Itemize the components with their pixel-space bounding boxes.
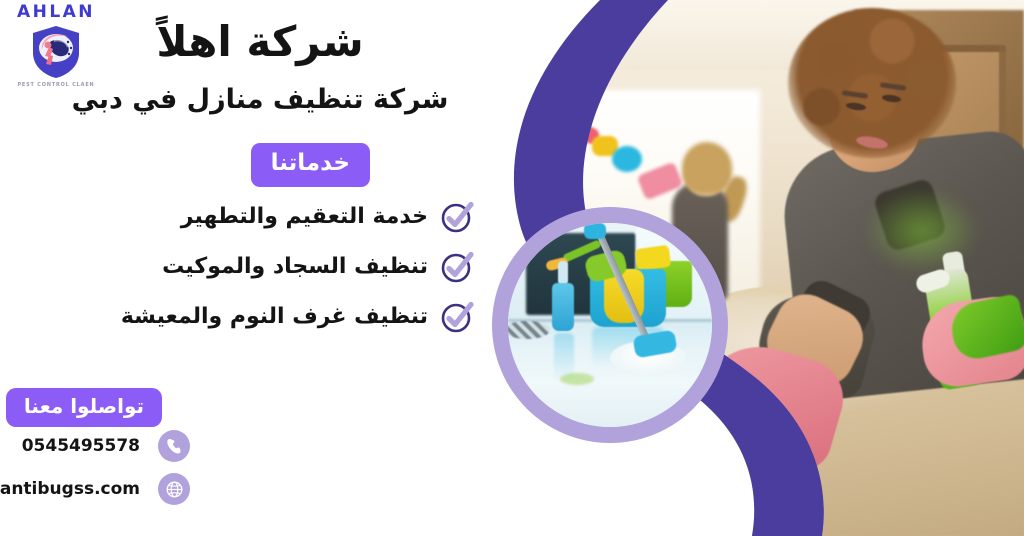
globe-icon (158, 473, 190, 505)
phone-number: 0545495578 (22, 436, 140, 456)
content-column: AHLAN PEST CONTROL CLAEN ش (0, 0, 520, 536)
website-url: https://antibugss.com (0, 479, 140, 499)
spray-mist (862, 186, 982, 276)
inset-mop-grip (584, 223, 606, 239)
check-circle-icon (440, 250, 474, 284)
check-circle-icon (440, 200, 474, 234)
contact-row-phone[interactable]: 0545495578 (0, 430, 190, 462)
contact-badge: تواصلوا معنا (6, 388, 162, 427)
inset-sponge (635, 245, 672, 272)
check-circle-icon (440, 300, 474, 334)
helper-hair (682, 142, 732, 194)
inset-brush-reflection (560, 373, 594, 385)
inset-photo (508, 223, 712, 427)
service-label: تنظيف السجاد والموكيت (162, 256, 428, 278)
shield-bug-icon (30, 24, 82, 80)
page-subtitle: شركة تنظيف منازل في دبي (60, 84, 460, 116)
services-badge: خدماتنا (251, 143, 370, 187)
duster-blue (612, 146, 642, 172)
promo-banner: AHLAN PEST CONTROL CLAEN ش (0, 0, 1024, 536)
list-item: خدمة التعقيم والتطهير (26, 198, 474, 236)
phone-icon (158, 430, 190, 462)
inset-spray-neck (558, 261, 568, 285)
contact-row-website[interactable]: https://antibugss.com (0, 473, 190, 505)
contact-list: 0545495578 https://antibugss.com (0, 430, 190, 516)
inset-spray-bottle (552, 283, 574, 331)
worker-hair (788, 8, 956, 158)
list-item: تنظيف السجاد والموكيت (26, 248, 474, 286)
page-title: شركة اهلاً (90, 18, 430, 65)
services-list: خدمة التعقيم والتطهير تنظيف السجاد والمو… (26, 198, 474, 348)
service-label: تنظيف غرف النوم والمعيشة (121, 306, 428, 328)
service-label: خدمة التعقيم والتطهير (181, 206, 428, 228)
list-item: تنظيف غرف النوم والمعيشة (26, 298, 474, 336)
